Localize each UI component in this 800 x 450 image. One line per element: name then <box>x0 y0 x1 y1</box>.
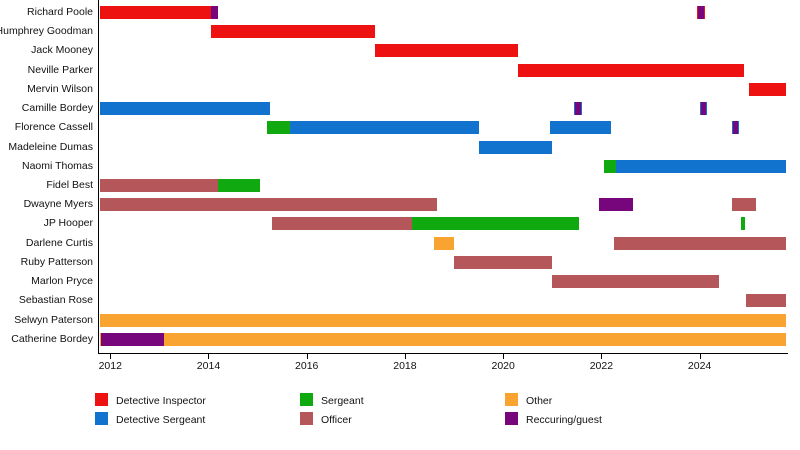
gantt-bar <box>733 121 738 134</box>
gantt-bar <box>211 25 376 38</box>
row-label: Mervin Wilson <box>27 84 93 95</box>
gantt-bar <box>434 237 454 250</box>
gantt-bar <box>375 44 517 57</box>
row-label: Naomi Thomas <box>22 161 93 172</box>
legend-item[interactable]: Other <box>505 390 602 409</box>
legend-column: SergeantOfficer <box>300 390 364 428</box>
legend-item[interactable]: Sergeant <box>300 390 364 409</box>
legend-swatch-icon <box>95 412 108 425</box>
gantt-bar <box>604 160 616 173</box>
x-axis-tick-label: 2016 <box>295 360 318 372</box>
legend-label: Other <box>526 395 552 407</box>
gantt-bar <box>749 83 786 96</box>
gantt-bar <box>698 6 703 19</box>
gantt-bar <box>518 64 744 77</box>
legend-swatch-icon <box>300 412 313 425</box>
legend-swatch-icon <box>95 393 108 406</box>
row-label: Catherine Bordey <box>11 334 93 345</box>
legend-label: Officer <box>321 414 352 426</box>
x-axis-tick <box>700 354 701 359</box>
row-label: Ruby Patterson <box>21 257 93 268</box>
row-label: JP Hooper <box>44 218 93 229</box>
legend-item[interactable]: Detective Sergeant <box>95 409 206 428</box>
row-label: Richard Poole <box>27 7 93 18</box>
x-axis-tick <box>503 354 504 359</box>
x-axis-tick <box>307 354 308 359</box>
x-axis-tick-label: 2014 <box>197 360 220 372</box>
gantt-bar <box>575 102 580 115</box>
legend-item[interactable]: Detective Inspector <box>95 390 206 409</box>
gantt-bar <box>701 102 706 115</box>
x-axis-tick <box>601 354 602 359</box>
legend-column: Detective InspectorDetective Sergeant <box>95 390 206 428</box>
gantt-bar <box>412 217 579 230</box>
x-axis-tick-label: 2022 <box>590 360 613 372</box>
gantt-bar <box>218 179 260 192</box>
row-label: Selwyn Paterson <box>14 315 93 326</box>
legend-swatch-icon <box>505 412 518 425</box>
x-axis-tick-label: 2012 <box>99 360 122 372</box>
gantt-bar <box>746 294 785 307</box>
gantt-bar <box>732 198 757 211</box>
x-axis-tick-label: 2018 <box>393 360 416 372</box>
row-label: Fidel Best <box>46 180 93 191</box>
gantt-bar <box>100 333 785 346</box>
gantt-bar <box>100 6 210 19</box>
gantt-bar <box>599 198 633 211</box>
chart-legend: Detective InspectorDetective SergeantSer… <box>0 390 800 435</box>
gantt-bar <box>272 217 412 230</box>
gantt-bar <box>100 179 218 192</box>
plot-area <box>98 0 788 354</box>
row-label: Humphrey Goodman <box>0 26 93 37</box>
legend-item[interactable]: Reccuring/guest <box>505 409 602 428</box>
gantt-bar <box>616 160 785 173</box>
gantt-bar <box>101 333 164 346</box>
x-axis-tick <box>405 354 406 359</box>
x-axis-tick <box>208 354 209 359</box>
gantt-bar <box>479 141 553 154</box>
legend-swatch-icon <box>300 393 313 406</box>
x-axis-tick-label: 2020 <box>491 360 514 372</box>
row-label: Dwayne Myers <box>24 199 93 210</box>
gantt-bar <box>552 275 719 288</box>
legend-swatch-icon <box>505 393 518 406</box>
legend-label: Reccuring/guest <box>526 414 602 426</box>
y-axis-line <box>98 0 99 354</box>
gantt-bar <box>550 121 611 134</box>
gantt-bar <box>614 237 786 250</box>
gantt-bar <box>290 121 479 134</box>
row-label: Marlon Pryce <box>31 276 93 287</box>
row-label: Darlene Curtis <box>26 238 93 249</box>
row-label: Jack Mooney <box>31 45 93 56</box>
row-label: Sebastian Rose <box>19 295 93 306</box>
x-axis-tick-label: 2024 <box>688 360 711 372</box>
gantt-bar <box>211 6 218 19</box>
legend-label: Detective Inspector <box>116 395 206 407</box>
gantt-bar <box>741 217 744 230</box>
legend-label: Sergeant <box>321 395 364 407</box>
row-label: Florence Cassell <box>15 122 93 133</box>
x-axis-ticks: 2012201420162018202020222024 <box>98 354 788 384</box>
row-label: Camille Bordey <box>22 103 93 114</box>
row-label: Madeleine Dumas <box>8 142 93 153</box>
legend-label: Detective Sergeant <box>116 414 205 426</box>
gantt-bar <box>100 198 436 211</box>
gantt-bar <box>100 102 269 115</box>
gantt-bar <box>267 121 289 134</box>
gantt-bar <box>454 256 552 269</box>
x-axis-tick <box>110 354 111 359</box>
row-label-axis: Richard PooleHumphrey GoodmanJack Mooney… <box>0 0 97 356</box>
legend-column: OtherReccuring/guest <box>505 390 602 428</box>
gantt-bar <box>100 314 785 327</box>
row-label: Neville Parker <box>28 65 93 76</box>
gantt-chart: Richard PooleHumphrey GoodmanJack Mooney… <box>0 0 800 450</box>
legend-item[interactable]: Officer <box>300 409 364 428</box>
